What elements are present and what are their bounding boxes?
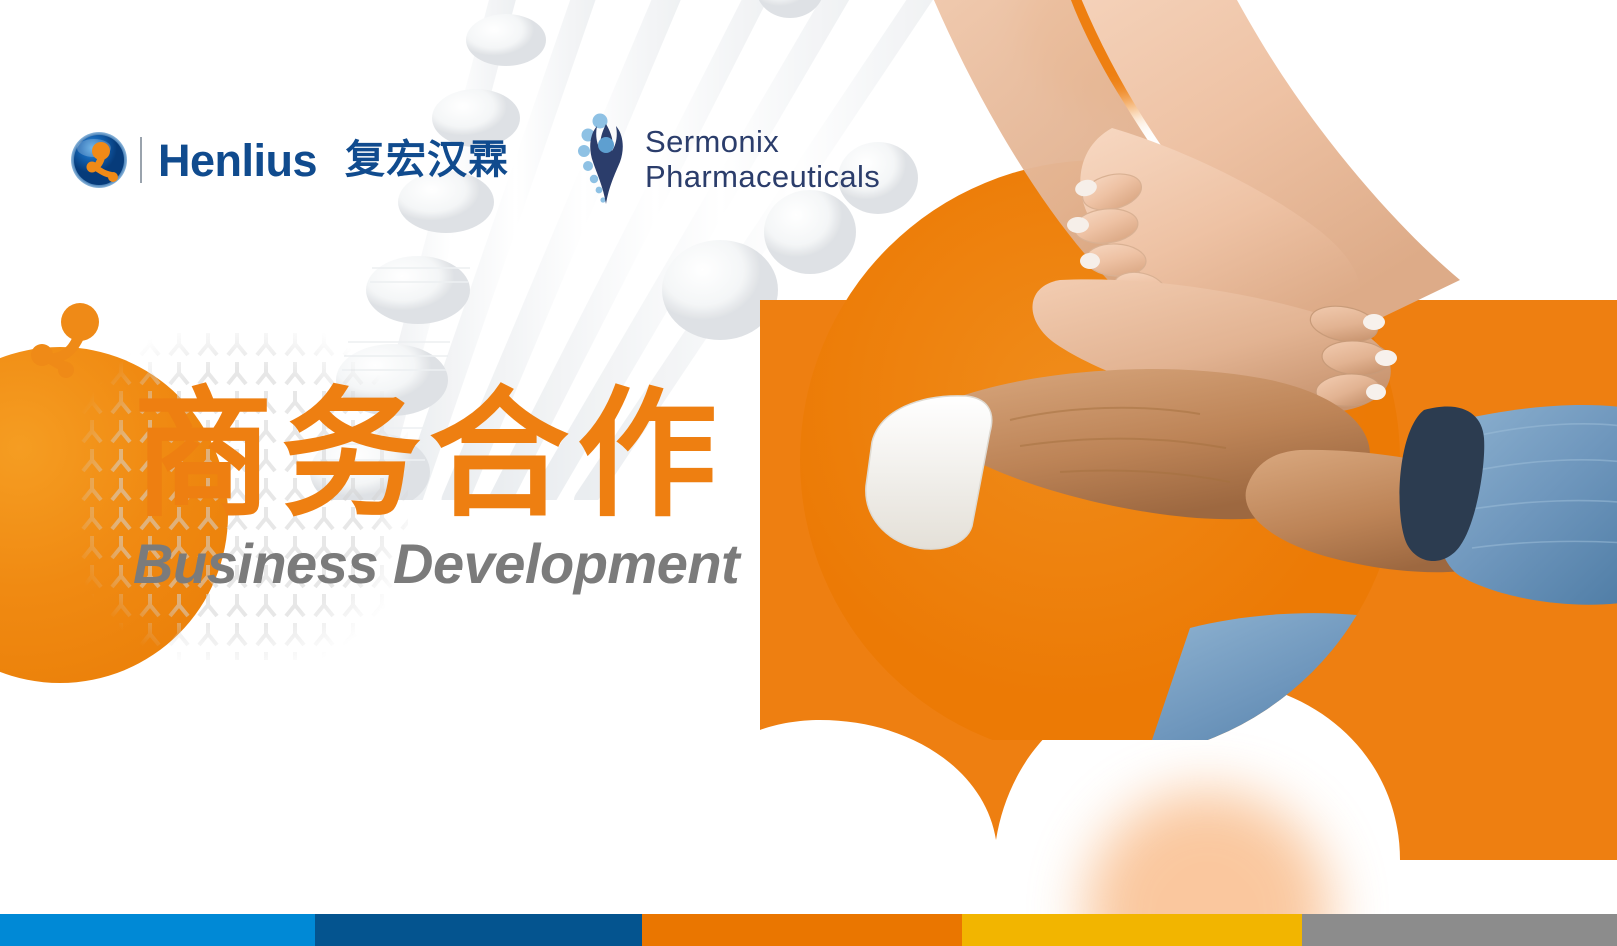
- bottom-bar-segment-dark-blue: [315, 914, 642, 946]
- molecule-icon: [22, 300, 108, 384]
- henlius-logo[interactable]: Henlius 复宏汉霖: [70, 131, 509, 189]
- presentation-cover-slide: Henlius 复宏汉霖 Sermon: [0, 0, 1617, 946]
- page-subtitle-english: Business Development: [133, 536, 739, 592]
- sermonix-logo[interactable]: Sermonix Pharmaceuticals: [575, 112, 880, 208]
- henlius-chinese-name: 复宏汉霖: [345, 140, 509, 180]
- sermonix-wordmark: Sermonix Pharmaceuticals: [645, 125, 880, 194]
- henlius-molecule-logo-mark: [70, 131, 128, 189]
- bottom-bar-segment-light-blue: [0, 914, 315, 946]
- headline-block: 商务合作 Business Development: [133, 386, 739, 592]
- logo-divider: [140, 137, 142, 183]
- bottom-bar-segment-orange: [642, 914, 962, 946]
- bottom-bar-segment-gray: [1302, 914, 1617, 946]
- page-title-chinese: 商务合作: [133, 386, 739, 526]
- logo-row: Henlius 复宏汉霖 Sermon: [70, 112, 880, 208]
- henlius-wordmark: Henlius: [158, 138, 317, 183]
- sermonix-line1: Sermonix: [645, 125, 880, 160]
- stacked-hands-photo: [760, 0, 1617, 740]
- bottom-bar-segment-yellow: [962, 914, 1302, 946]
- sermonix-figure-logo-mark: [575, 112, 637, 208]
- sermonix-line2: Pharmaceuticals: [645, 160, 880, 195]
- bottom-color-bar: [0, 914, 1617, 946]
